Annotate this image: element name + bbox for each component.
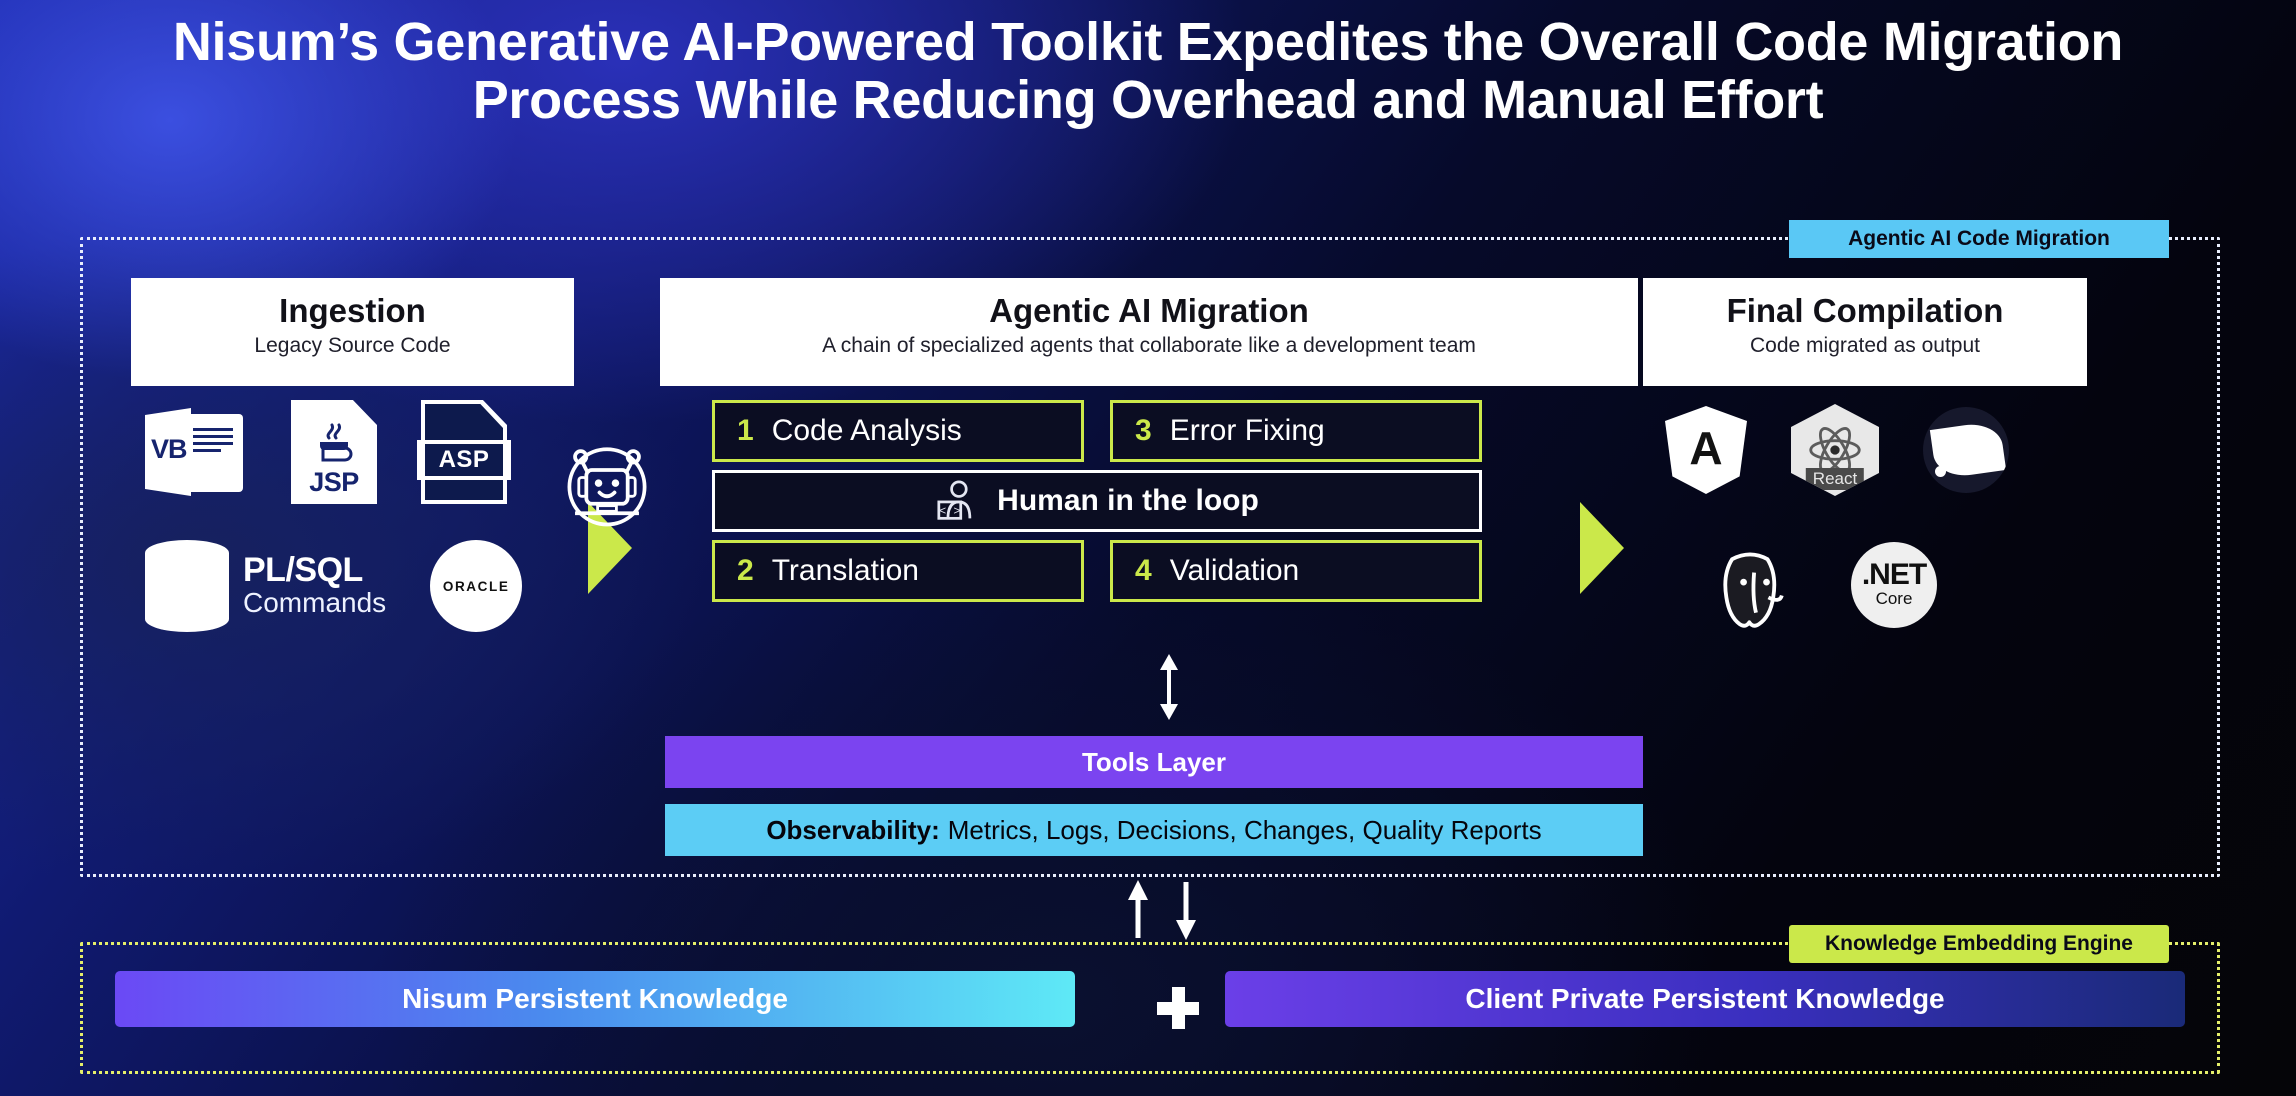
oracle-icon: ORACLE [430,540,522,632]
final-icon-grid: A React [1643,400,2087,670]
card-ingestion: Ingestion Legacy Source Code [131,278,574,386]
section-knowledge-embedding-engine: Knowledge Embedding Engine Nisum Persist… [80,942,2220,1074]
step-number: 3 [1135,414,1152,448]
step-label: Translation [772,554,919,588]
plsql-icon-label: PL/SQL [243,553,386,587]
jsp-icon-label: JSP [291,467,377,498]
connector-arrows [1110,880,1230,940]
step-validation[interactable]: 4 Validation [1110,540,1482,602]
step-label: Error Fixing [1170,414,1325,448]
react-icon-label: React [1806,468,1864,490]
ingestion-title: Ingestion [279,292,426,330]
client-private-persistent-knowledge-bar[interactable]: Client Private Persistent Knowledge [1225,971,2185,1027]
tools-layer-bar[interactable]: Tools Layer [665,736,1643,788]
plsql-icon-sublabel: Commands [243,587,386,619]
asp-icon: ASP [421,400,507,504]
human-code-icon: </> [935,480,981,522]
observability-value: Metrics, Logs, Decisions, Changes, Quali… [948,815,1542,846]
robot-icon [560,438,654,532]
section-agentic-ai-code-migration: Agentic AI Code Migration Ingestion Lega… [80,237,2220,877]
postgresql-icon [1713,540,1799,630]
arrow-agentic-to-final [1580,502,1624,594]
diagram-canvas: Nisum’s Generative AI-Powered Toolkit Ex… [0,0,2296,1096]
dotnet-core-icon: .NET Core [1851,542,1937,628]
step-number: 1 [737,414,754,448]
card-final-compilation: Final Compilation Code migrated as outpu… [1643,278,2087,386]
agentic-pipeline: 1 Code Analysis 3 Error Fixing </> Human… [660,400,1638,680]
jsp-icon: JSP [291,400,377,504]
dotnet-icon-label: .NET [1862,561,1926,590]
section-badge-agentic-ai-code-migration: Agentic AI Code Migration [1789,220,2169,258]
oracle-icon-label: ORACLE [443,579,510,594]
step-translation[interactable]: 2 Translation [712,540,1084,602]
agentic-title: Agentic AI Migration [989,292,1309,330]
dotnet-icon-sublabel: Core [1876,590,1913,609]
human-in-the-loop-label: Human in the loop [997,484,1259,518]
nisum-persistent-knowledge-bar[interactable]: Nisum Persistent Knowledge [115,971,1075,1027]
ingestion-icon-grid: VB JSP ASP [131,400,574,670]
final-subtitle: Code migrated as output [1750,333,1980,358]
card-agentic-ai-migration: Agentic AI Migration A chain of speciali… [660,278,1638,386]
asp-icon-label: ASP [417,440,511,480]
agentic-subtitle: A chain of specialized agents that colla… [822,333,1476,358]
step-label: Validation [1170,554,1300,588]
step-number: 4 [1135,554,1152,588]
vb-icon-label: VB [151,434,187,465]
section-badge-knowledge-embedding-engine: Knowledge Embedding Engine [1789,925,2169,963]
step-number: 2 [737,554,754,588]
spring-icon [1923,407,2009,493]
java-cup-glyph [309,414,359,464]
step-error-fixing[interactable]: 3 Error Fixing [1110,400,1482,462]
arrow-steps-to-tools [1155,654,1183,720]
react-icon: React [1791,404,1879,496]
svg-text:</>: </> [939,505,960,519]
vb-icon: VB [145,404,247,500]
final-title: Final Compilation [1727,292,2004,330]
human-in-the-loop-bar[interactable]: </> Human in the loop [712,470,1482,532]
step-code-analysis[interactable]: 1 Code Analysis [712,400,1084,462]
plus-icon [1157,987,1199,1029]
angular-icon: A [1665,406,1747,494]
ingestion-subtitle: Legacy Source Code [254,333,450,358]
observability-label: Observability: [766,815,939,846]
angular-icon-label: A [1689,421,1722,475]
plsql-icon [145,540,229,632]
observability-bar[interactable]: Observability: Metrics, Logs, Decisions,… [665,804,1643,856]
page-title: Nisum’s Generative AI-Powered Toolkit Ex… [0,14,2296,130]
step-label: Code Analysis [772,414,962,448]
